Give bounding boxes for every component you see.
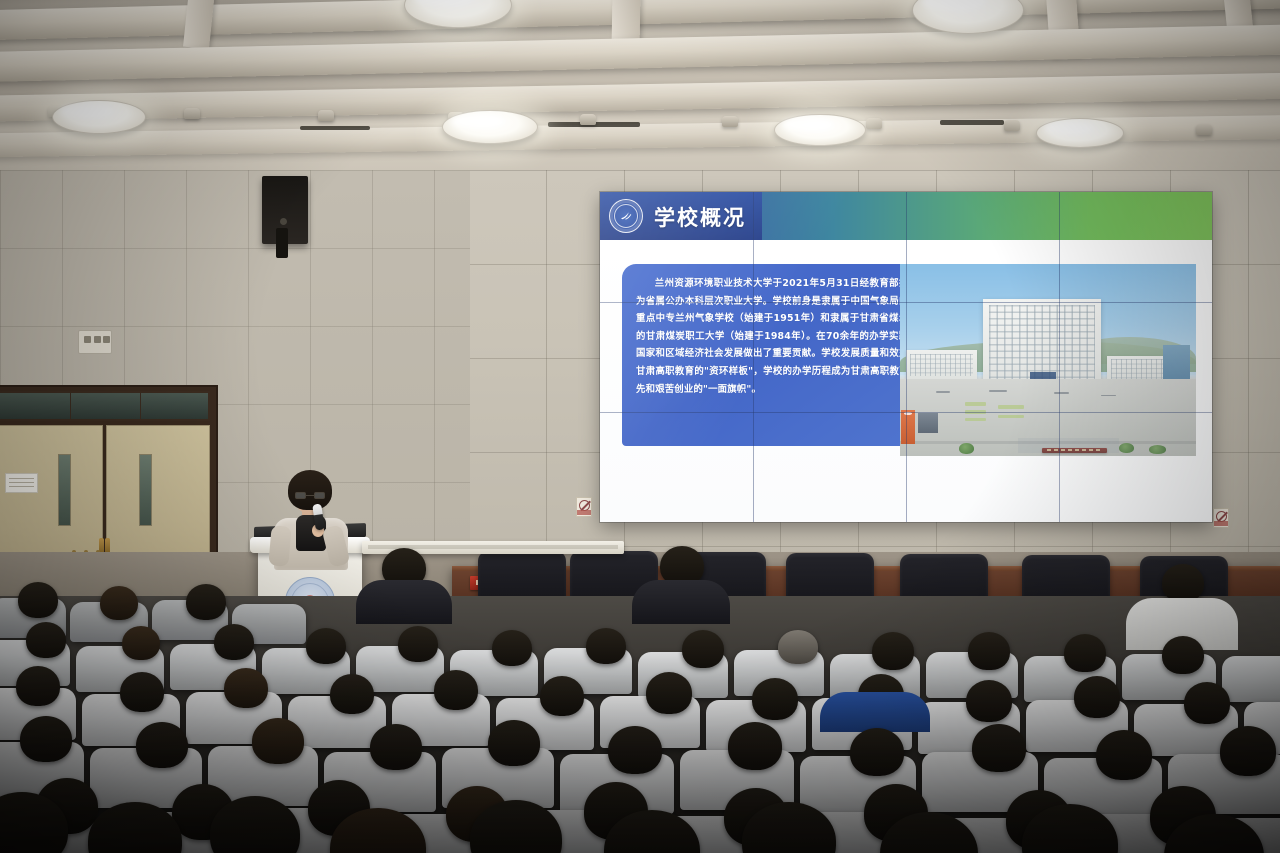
person-head-r4-5 [488, 720, 540, 766]
person-head-r2-11 [968, 632, 1010, 670]
person-head-r3-2 [120, 672, 164, 712]
presentation-video-wall[interactable]: 学校概况 兰州资源环境职业技术大学于2021年5月31日经教育部批准设置为省属公… [600, 192, 1212, 522]
person-head-r2-3 [214, 624, 254, 660]
photo-banner [901, 410, 914, 444]
person-head-r3-5 [434, 670, 478, 710]
slide-body: 兰州资源环境职业技术大学于2021年5月31日经教育部批准设置为省属公办本科层次… [600, 240, 1212, 522]
door-notice-sign [5, 473, 38, 493]
person-body-r1-4 [356, 580, 452, 624]
person-head-r2-2 [122, 626, 160, 660]
person-head-r1-1 [18, 582, 58, 618]
person-head-r2-4 [306, 628, 346, 664]
no-smoking-icon-right [1213, 508, 1229, 528]
door-window-left [58, 454, 71, 526]
person-head-r4-7 [728, 722, 782, 770]
person-head-r3-1 [16, 666, 60, 706]
audience-area [0, 596, 1280, 853]
person-head-r2-7 [586, 628, 626, 664]
person-head-r1-2 [100, 586, 138, 620]
slide-title: 学校概况 [654, 202, 746, 232]
photo-building-left [906, 350, 977, 379]
person-head-r1-3 [186, 584, 226, 620]
person-head-r4-1 [20, 716, 72, 762]
person-head-r4-2 [136, 722, 188, 768]
person-head-r4-10 [1096, 730, 1152, 780]
slide-header-band: 学校概况 [600, 192, 1212, 240]
ceiling-mount-6 [722, 116, 738, 127]
ceiling-mount-8 [1004, 120, 1020, 131]
person-head-r4-11 [1220, 726, 1276, 776]
slide-paragraph: 兰州资源环境职业技术大学于2021年5月31日经教育部批准设置为省属公办本科层次… [636, 275, 938, 398]
person-head-r3-7 [646, 672, 692, 714]
ceiling-vent-c [940, 120, 1004, 125]
person-body-r1-5 [632, 580, 730, 624]
ceiling-light-6 [1036, 118, 1124, 148]
ceiling-mount-3 [318, 110, 334, 121]
ceiling-light-5 [774, 114, 866, 146]
person-head-r2-5 [398, 626, 438, 662]
person-head-r3-3 [224, 668, 268, 708]
person-head-r3-8 [752, 678, 798, 720]
person-head-r2-6 [492, 630, 532, 666]
ceiling-light-2 [912, 0, 1024, 34]
person-head-r3-10 [966, 680, 1012, 722]
wall-socket-plate[interactable] [78, 330, 112, 354]
person-head-r4-9 [972, 724, 1026, 772]
photo-main-tower [983, 299, 1101, 391]
university-emblem-icon [609, 199, 643, 233]
ceiling-rib-a [183, 0, 215, 49]
person-head-r2-1 [26, 622, 66, 658]
person-head-r4-8 [850, 728, 904, 776]
person-head-r3-4 [330, 674, 374, 714]
presenter-arm-left [268, 525, 291, 567]
presenter-glasses-icon [295, 492, 325, 499]
photo-display-board [918, 413, 939, 433]
wall-speaker-icon [262, 176, 308, 244]
ceiling-light-4 [442, 110, 538, 144]
person-head-r4-4 [370, 724, 422, 770]
person-head-r2-10 [872, 632, 914, 670]
person-head-r1-6 [1162, 564, 1204, 602]
person-head-r2-13 [1162, 636, 1204, 674]
ceiling-mount-7 [866, 118, 882, 129]
person-body-blue-jacket [820, 692, 930, 732]
ceiling-light-3 [52, 100, 146, 134]
person-head-r3-6 [540, 676, 584, 716]
person-head-r2-9 [778, 630, 818, 664]
person-head-r4-6 [608, 726, 662, 774]
person-head-r3-11 [1074, 676, 1120, 718]
transom-window [0, 391, 210, 421]
campus-photo [900, 264, 1196, 456]
presenter [268, 470, 354, 562]
ceiling-mount-2 [184, 108, 200, 119]
ceiling-mount-9 [1196, 124, 1212, 135]
speaker-cone [280, 218, 287, 225]
person-head-r2-8 [682, 630, 724, 668]
lecture-hall-scene: 学校概况 兰州资源环境职业技术大学于2021年5月31日经教育部批准设置为省属公… [0, 0, 1280, 853]
ceiling-vent-b [300, 126, 370, 130]
photo-caption-strip [1018, 438, 1119, 453]
person-head-r3-12 [1184, 682, 1230, 724]
presenter-hair [288, 470, 332, 510]
ceiling-mount-5 [580, 114, 596, 125]
person-head-r6-2 [88, 802, 182, 853]
photo-building-right [1107, 356, 1166, 381]
person-head-r4-3 [252, 718, 304, 764]
seat-r2-14[interactable] [1222, 656, 1280, 702]
person-head-r2-12 [1064, 634, 1106, 672]
door-window-right [139, 454, 152, 526]
no-smoking-icon-left [576, 497, 592, 517]
